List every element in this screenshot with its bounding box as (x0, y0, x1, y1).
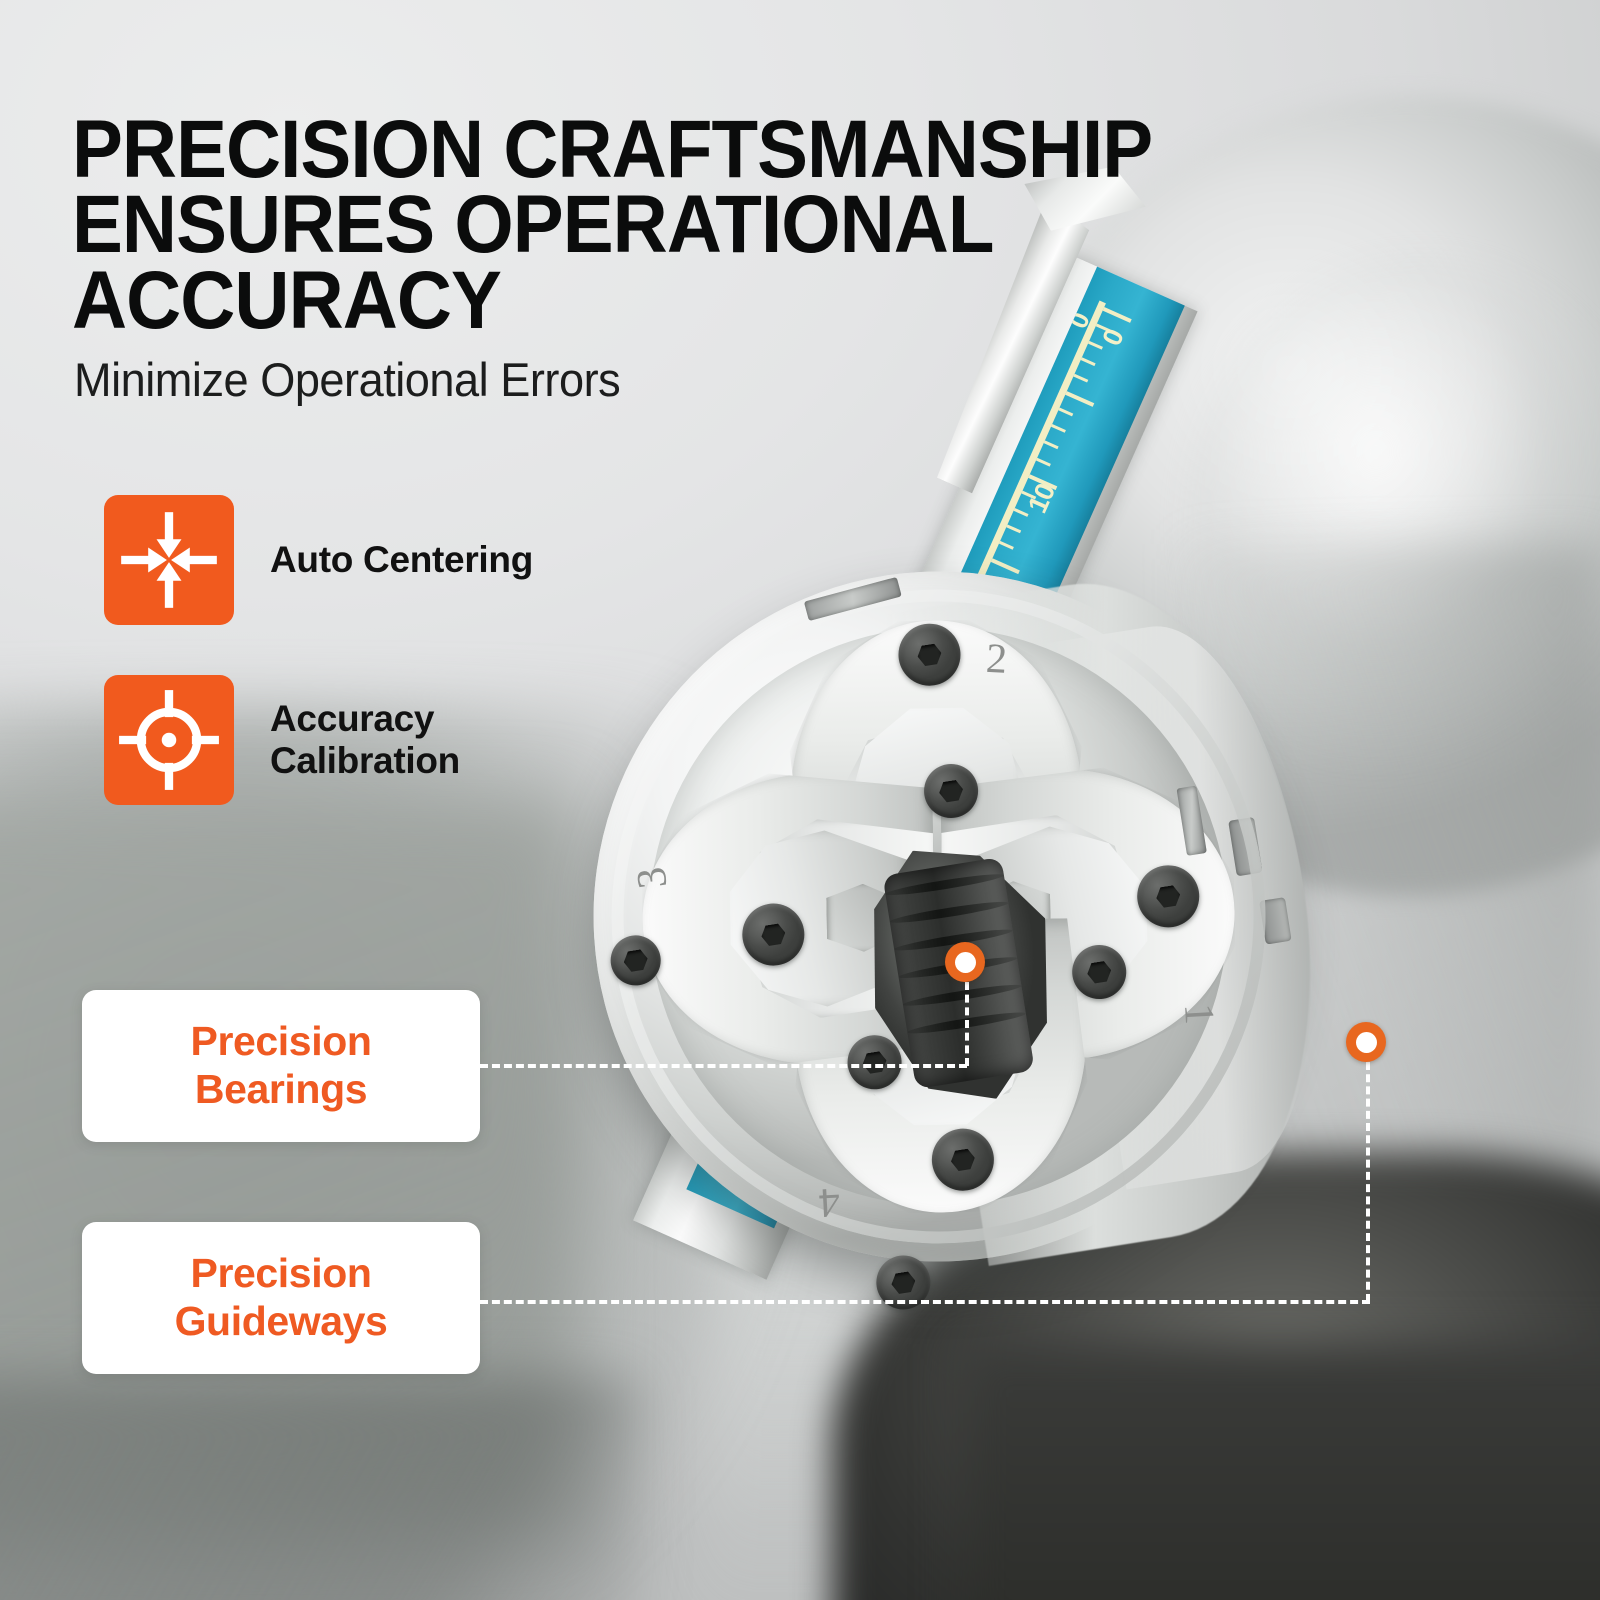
callout-precision-guideways: Precision Guideways (82, 1222, 480, 1374)
callout-label: Precision Guideways (175, 1250, 388, 1345)
hub-rib (907, 1009, 1027, 1037)
caliper-minor-tick (1081, 357, 1096, 366)
crosshair-target-icon (104, 675, 234, 805)
feature-label: Auto Centering (270, 539, 533, 581)
hub-rib (902, 981, 1022, 1009)
caliper-minor-tick (1073, 374, 1088, 383)
caliper-minor-tick (1044, 441, 1059, 450)
caliper-minor-tick (1014, 508, 1029, 517)
subheadline: Minimize Operational Errors (74, 352, 620, 407)
caliper-minor-tick (1088, 340, 1103, 349)
bottom-left-shadow (0, 1376, 640, 1600)
caliper-major-tick (1065, 391, 1094, 407)
hub-rib (889, 898, 1009, 926)
hub-rib (885, 871, 1005, 899)
feature-accuracy-calibration: Accuracy Calibration (104, 675, 460, 805)
page-title: PRECISION CRAFTSMANSHIP ENSURES OPERATIO… (72, 112, 1402, 338)
caliper-minor-tick (1051, 424, 1066, 433)
caliper-minor-tick (1036, 457, 1051, 466)
headline-line-2: ENSURES OPERATIONAL ACCURACY (72, 187, 1402, 338)
jaw-number-2: 2 (985, 635, 1008, 684)
jaw-number-4: 4 (818, 1178, 841, 1227)
feature-auto-centering: Auto Centering (104, 495, 533, 625)
callout-precision-bearings: Precision Bearings (82, 990, 480, 1142)
feature-label: Accuracy Calibration (270, 698, 460, 782)
jaw-number-1: 1 (1174, 1002, 1223, 1025)
caliper-minor-tick (1006, 524, 1021, 533)
precision-guideways-marker (1346, 1022, 1386, 1062)
callout-label: Precision Bearings (191, 1018, 372, 1113)
caliper-minor-tick (1058, 407, 1073, 416)
converging-arrows-icon (104, 495, 234, 625)
precision-bearings-marker (945, 942, 985, 982)
